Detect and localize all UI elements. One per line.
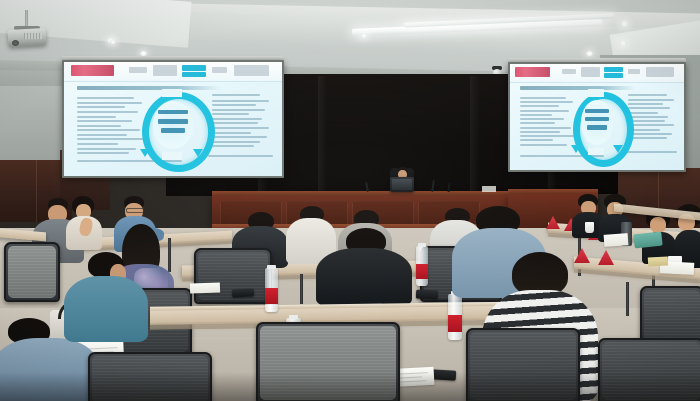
left-ring-gap-bottom [162, 152, 182, 160]
envelope-yellow [648, 256, 668, 266]
chair-left-1[interactable] [4, 242, 56, 304]
projector-vent [24, 33, 42, 39]
left-ring-core-text-1 [158, 110, 189, 115]
left-ring-core-text-2 [158, 119, 189, 124]
right-nav-tab-2[interactable] [581, 67, 600, 77]
downlight-6 [619, 40, 627, 46]
left-projection-screen[interactable] [62, 60, 284, 178]
table-center-mid-leg-1 [300, 274, 303, 304]
left-nav-tab-4[interactable] [212, 67, 227, 73]
tablet-teal[interactable] [633, 232, 662, 249]
podium-paper [482, 186, 496, 192]
projector-mount-pole [25, 10, 28, 27]
left-ring-arrow-left [140, 149, 150, 157]
attendee-teal-torso [64, 276, 148, 342]
name-tent-1 [546, 216, 560, 229]
attendee-black-top-3-face [650, 217, 666, 233]
chair-center-1[interactable] [194, 248, 268, 306]
right-nav-tab-4[interactable] [628, 69, 640, 74]
right-ring-arrow-right [613, 145, 623, 153]
smartphone-center-2[interactable] [416, 290, 438, 300]
right-slide-logo-icon [515, 67, 550, 77]
glasses-icon [126, 208, 144, 213]
downlight-7 [586, 51, 593, 56]
right-nav-tab-3[interactable] [604, 67, 623, 72]
attendee-woman-ponytail [64, 196, 106, 252]
conference-room-photo [0, 0, 700, 401]
table-right-front-leg [626, 282, 629, 316]
name-tent-5 [598, 250, 614, 265]
attendee-black-shirt-center [316, 228, 414, 306]
right-ring-core-text-3 [587, 125, 606, 129]
paper-cup-right-2 [585, 222, 594, 233]
left-slide-logo-icon [71, 65, 115, 75]
left-nav-tab-3b[interactable] [182, 72, 206, 77]
water-bottle-center-3 [448, 294, 462, 340]
right-slide-title [520, 86, 635, 90]
left-nav-tab-1[interactable] [129, 67, 146, 73]
right-ring-gap-bottom [588, 148, 604, 155]
water-bottle-center-2 [416, 246, 428, 286]
left-nav-tab-2[interactable] [153, 65, 177, 75]
right-ring-core [581, 100, 612, 145]
downlight-2 [110, 40, 116, 44]
laptop-screen [392, 179, 412, 190]
right-projection-screen[interactable] [508, 62, 686, 172]
left-ring-core-text-3 [161, 128, 185, 133]
curtain-fold-3 [470, 76, 480, 192]
left-nav-tab-3[interactable] [182, 65, 206, 71]
smartphone-center-1[interactable] [232, 288, 254, 297]
left-slide [64, 62, 282, 176]
left-ring-arrow-right [193, 149, 203, 157]
downlight-4 [361, 33, 367, 38]
right-nav-tab-1[interactable] [562, 69, 576, 74]
projector-lens [12, 40, 19, 46]
handout-center [190, 282, 220, 293]
right-slide [510, 64, 684, 170]
attendee-teal-shirt [64, 252, 150, 342]
downlight-5 [620, 20, 629, 27]
left-ring-gap-top [162, 89, 182, 97]
right-ring-core-text-2 [585, 117, 609, 121]
left-nav-tab-5[interactable] [234, 65, 269, 75]
left-ring-core [153, 101, 192, 149]
right-ring-core-text-1 [585, 109, 609, 113]
right-ring-arrow-left [571, 145, 581, 153]
attendee-black-shirt-center-torso [316, 248, 412, 306]
water-bottle-center-1 [265, 268, 278, 312]
right-nav-tab-3b[interactable] [604, 73, 623, 78]
right-nav-tab-5[interactable] [646, 67, 674, 77]
handout-right-1 [604, 233, 629, 247]
right-ring-gap-top [588, 89, 604, 96]
podium-laptop[interactable] [390, 177, 414, 192]
foreground-shadow [0, 372, 700, 401]
curtain-fold-2 [318, 76, 327, 192]
left-slide-title [77, 86, 221, 90]
